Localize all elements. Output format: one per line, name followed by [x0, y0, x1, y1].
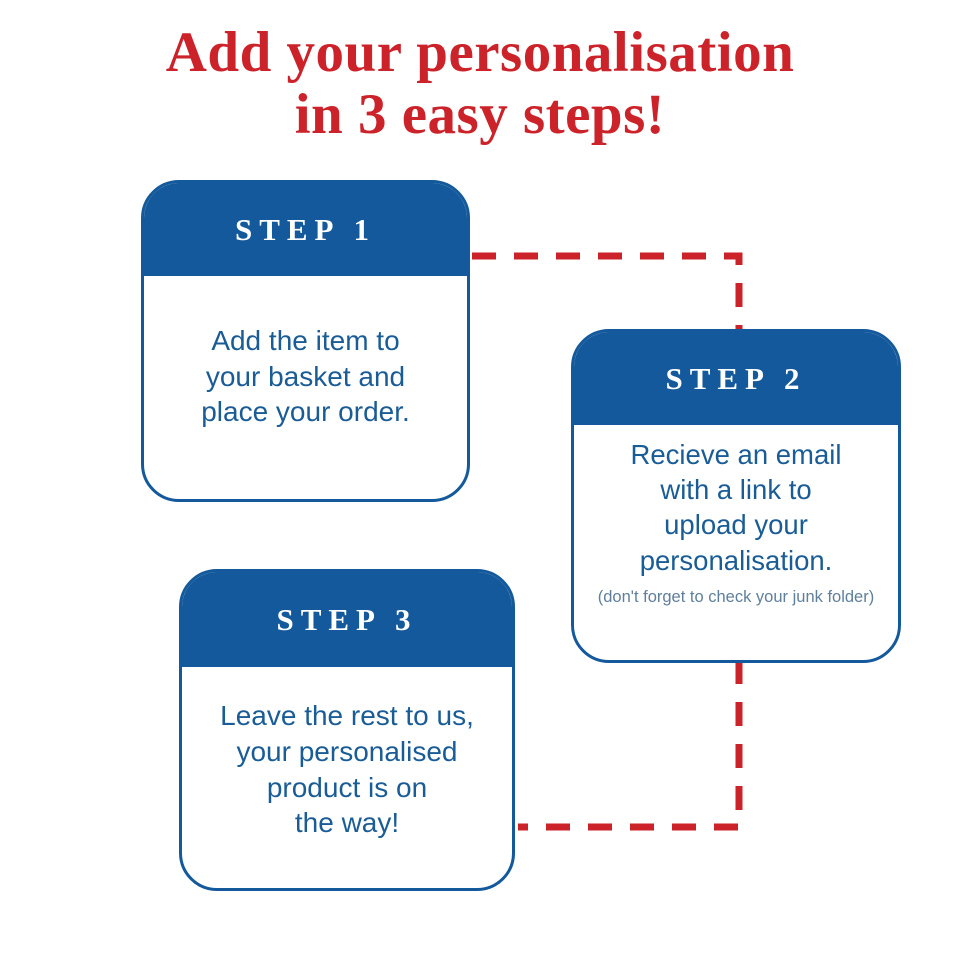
step-card-1-text: Add the item to your basket and place yo…: [201, 323, 410, 430]
step-card-1-body: Add the item to your basket and place yo…: [144, 276, 467, 499]
step-card-2-body: Recieve an email with a link to upload y…: [574, 425, 898, 660]
connector-step-2-to-step-3: [518, 660, 739, 827]
page-title-line-1: Add your personalisation: [0, 22, 960, 84]
step-card-2[interactable]: STEP 2 Recieve an email with a link to u…: [571, 329, 901, 663]
step-card-2-note: (don't forget to check your junk folder): [598, 588, 874, 608]
step-card-3-body: Leave the rest to us, your personalised …: [182, 667, 512, 888]
infographic-canvas: Add your personalisation in 3 easy steps…: [0, 0, 960, 960]
step-card-2-text: Recieve an email with a link to upload y…: [631, 437, 842, 578]
step-card-3-text: Leave the rest to us, your personalised …: [220, 698, 474, 841]
page-title-line-2: in 3 easy steps!: [0, 84, 960, 146]
step-card-3[interactable]: STEP 3 Leave the rest to us, your person…: [179, 569, 515, 891]
connector-step-1-to-step-2: [472, 256, 739, 332]
page-title: Add your personalisation in 3 easy steps…: [0, 22, 960, 145]
step-card-3-header: STEP 3: [182, 572, 512, 667]
step-card-1-header: STEP 1: [144, 183, 467, 276]
step-card-2-header: STEP 2: [574, 332, 898, 425]
step-card-1[interactable]: STEP 1 Add the item to your basket and p…: [141, 180, 470, 502]
